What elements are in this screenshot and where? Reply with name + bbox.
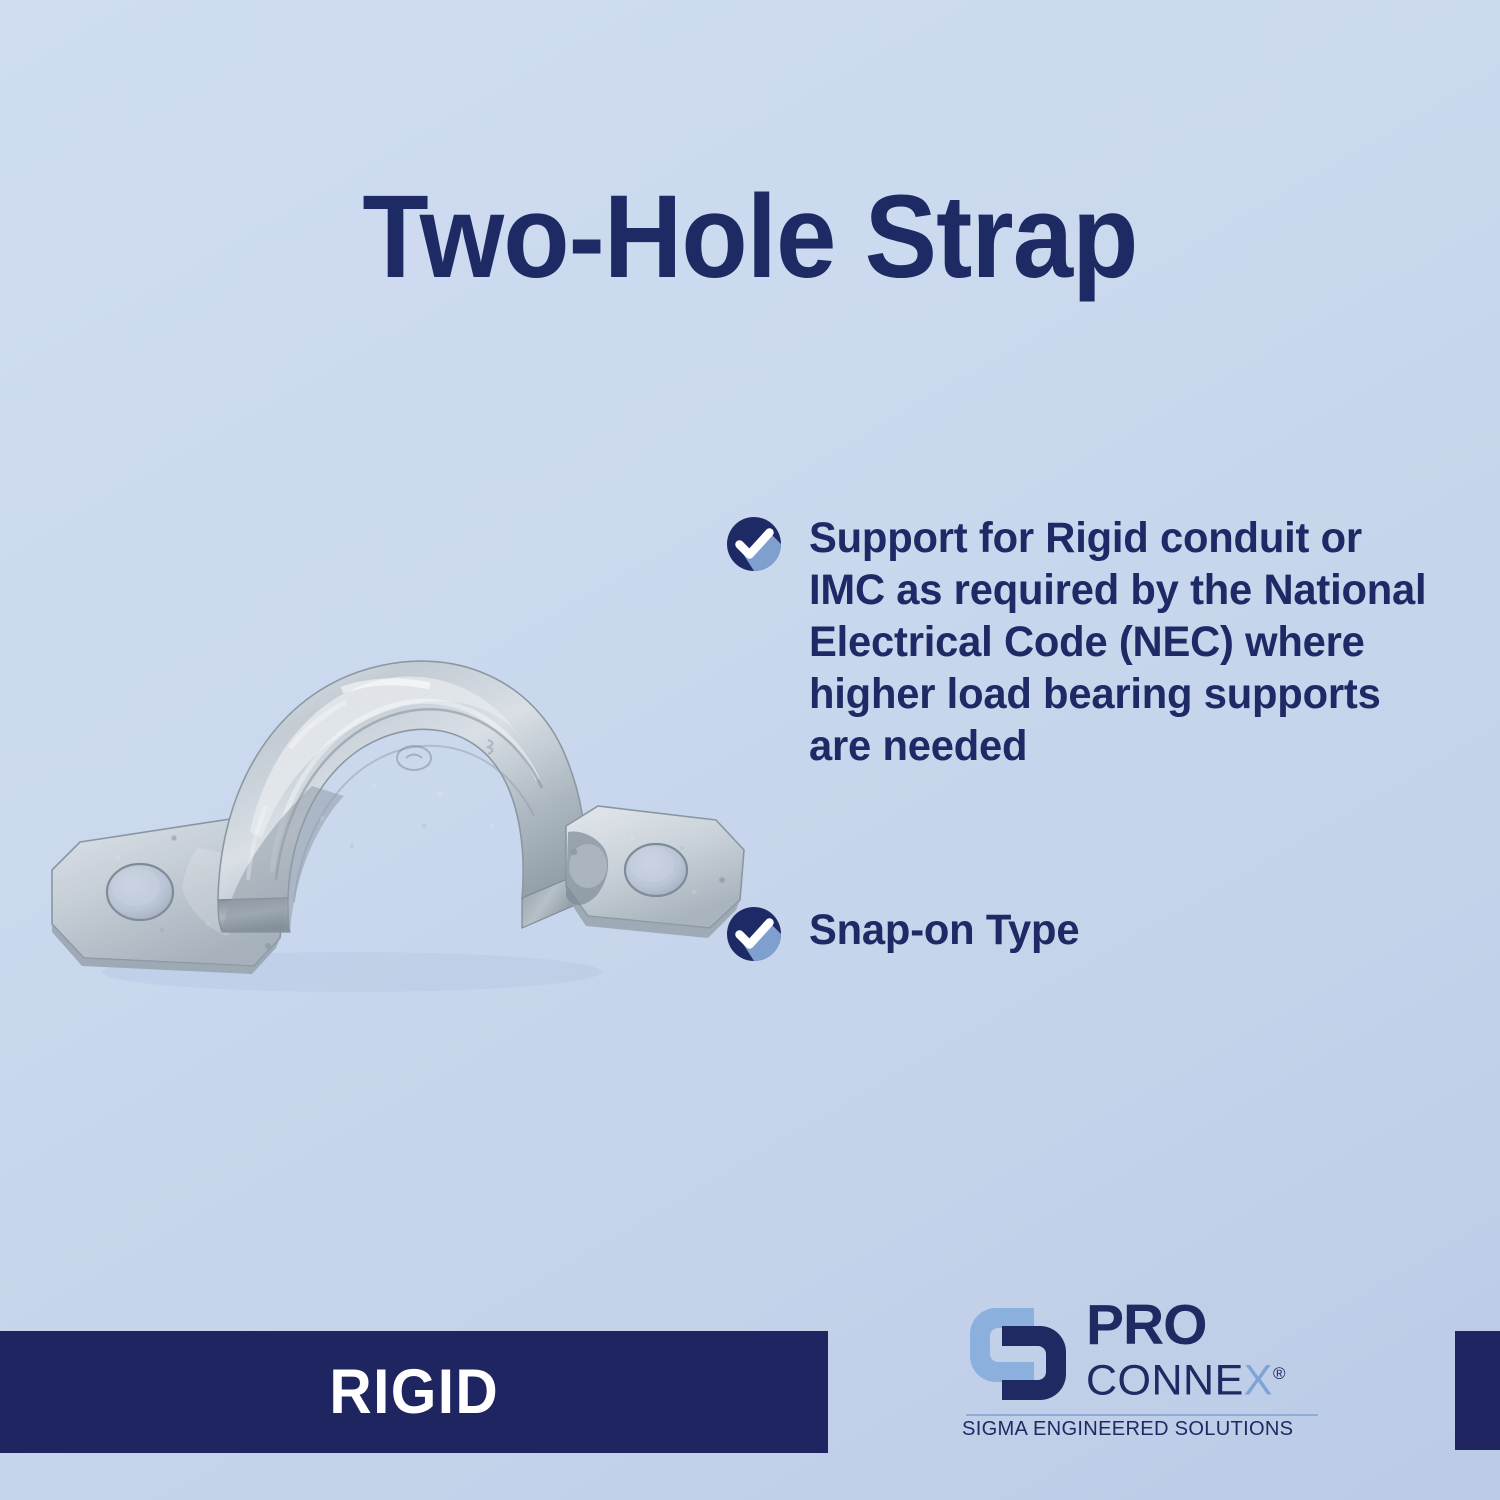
feature-item: Support for Rigid conduit or IMC as requ… [726,512,1468,772]
page-title: Two-Hole Strap [60,178,1440,296]
logo-tagline: SIGMA ENGINEERED SOLUTIONS [962,1417,1315,1441]
registered-trademark-icon: ® [1273,1364,1286,1383]
logo-divider [966,1414,1318,1416]
infographic-canvas: Two-Hole Strap [0,0,1500,1500]
corner-accent-block [1455,1331,1500,1450]
check-circle-icon [726,516,782,572]
feature-text: Support for Rigid conduit or IMC as requ… [809,512,1448,772]
category-label: RIGID [329,1356,499,1428]
logo-connex-prefix: CONNE [1086,1356,1244,1404]
check-circle-icon [726,906,782,962]
brand-logo: PRO CONNEX® SIGMA ENGINEERED SOLUTIONS [962,1296,1322,1476]
feature-text: Snap-on Type [809,902,1079,958]
feature-list: Support for Rigid conduit or IMC as requ… [726,512,1468,962]
category-ribbon: RIGID [0,1331,828,1453]
product-image [22,580,782,1010]
proconnex-link-mark-icon [962,1300,1074,1408]
feature-item: Snap-on Type [726,902,1468,962]
logo-connex-text: CONNEX® [1086,1352,1286,1402]
logo-pro-text: PRO [1086,1298,1322,1352]
logo-connex-x: X [1244,1356,1273,1404]
